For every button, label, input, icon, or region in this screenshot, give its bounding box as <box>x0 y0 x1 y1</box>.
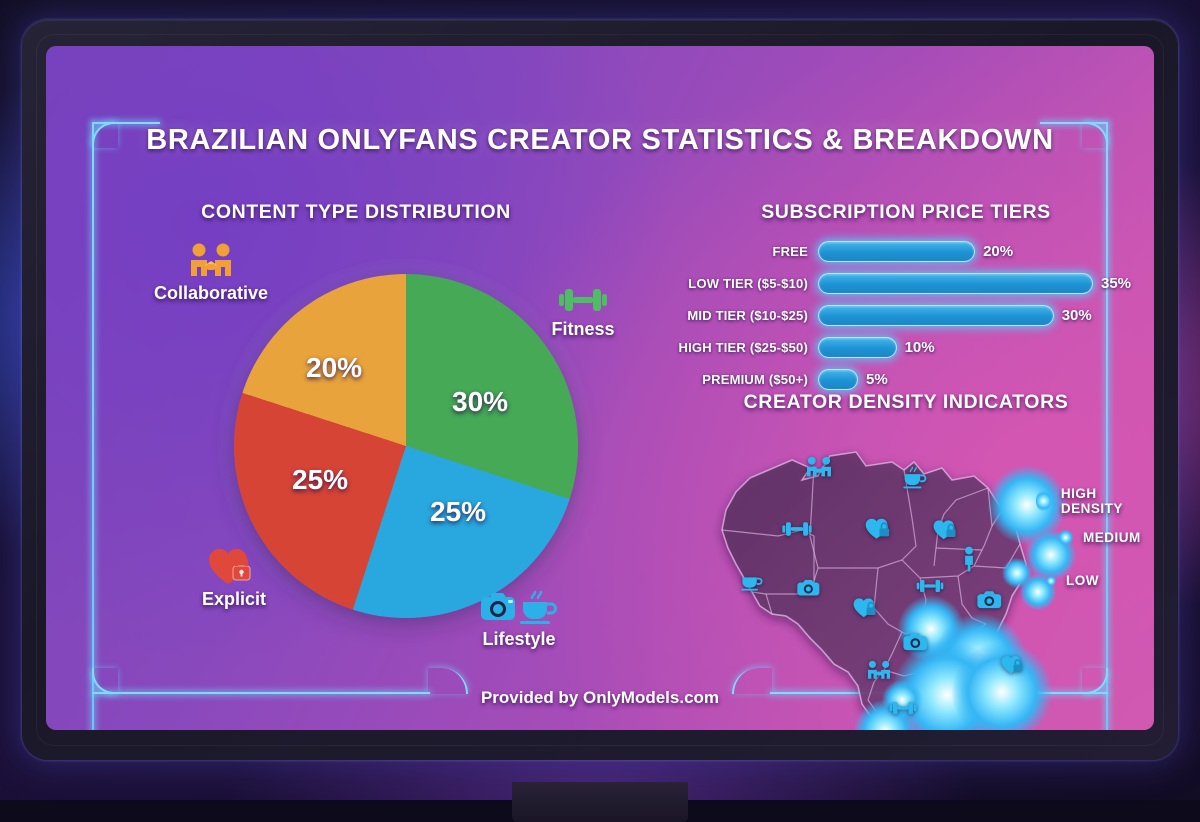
density-legend-dot <box>1036 490 1051 512</box>
dumbbell-icon <box>528 282 638 318</box>
bar-fill-mid-tier <box>818 305 1054 326</box>
monitor-frame: BRAZILIAN ONLYFANS CREATOR STATISTICS & … <box>22 20 1178 760</box>
bar-fill-free <box>818 241 975 262</box>
bar-track: 35% <box>818 273 1146 295</box>
brazil-density-map: HIGH DENSITY MEDIUM LOW <box>706 418 1126 730</box>
pie-legend-collaborative: Collaborative <box>136 242 286 304</box>
pie-legend-fitness: Fitness <box>528 282 638 340</box>
table-row: PREMIUM ($50+) 5% <box>666 366 1146 393</box>
bar-value-mid-tier: 30% <box>1062 307 1092 324</box>
bar-value-free: 20% <box>983 243 1013 260</box>
bar-value-high-tier: 10% <box>905 339 935 356</box>
pie-legend-label-lifestyle: Lifestyle <box>454 629 584 650</box>
neon-border-left <box>92 122 94 730</box>
map-legend-low: LOW <box>1046 573 1099 588</box>
bar-track: 30% <box>818 305 1146 327</box>
density-legend-dot <box>1058 530 1073 545</box>
map-legend-label-low: LOW <box>1066 573 1099 588</box>
subscription-price-tiers-chart: FREE 20% LOW TIER ($5-$10) 35% MID TIER … <box>666 238 1146 398</box>
bar-track: 20% <box>818 241 1146 263</box>
density-legend-dot <box>1046 576 1056 586</box>
bar-value-premium: 5% <box>866 371 888 388</box>
table-row: HIGH TIER ($25-$50) 10% <box>666 334 1146 361</box>
map-legend-high-density: HIGH DENSITY <box>1036 486 1130 516</box>
pie-legend-lifestyle: Lifestyle <box>454 586 584 650</box>
pie-legend-label-fitness: Fitness <box>528 319 638 340</box>
bar-label-mid-tier: MID TIER ($10-$25) <box>666 308 818 323</box>
pie-slice-label-collaborative: 20% <box>306 352 362 384</box>
heart-lock-icon <box>174 546 294 588</box>
bar-track: 10% <box>818 337 1146 359</box>
bar-track: 5% <box>818 369 1146 391</box>
pie-slice-label-lifestyle: 25% <box>430 496 486 528</box>
pie-legend-label-explicit: Explicit <box>174 589 294 610</box>
map-legend-medium: MEDIUM <box>1058 530 1141 545</box>
table-row: MID TIER ($10-$25) 30% <box>666 302 1146 329</box>
pie-slice-label-fitness: 30% <box>452 386 508 418</box>
map-section-title: CREATOR DENSITY INDICATORS <box>666 391 1146 414</box>
monitor-screen: BRAZILIAN ONLYFANS CREATOR STATISTICS & … <box>46 46 1154 730</box>
monitor-stand-neck <box>512 782 688 822</box>
bar-label-premium: PREMIUM ($50+) <box>666 372 818 387</box>
table-row: FREE 20% <box>666 238 1146 265</box>
map-legend-label-medium: MEDIUM <box>1083 530 1141 545</box>
bar-label-low-tier: LOW TIER ($5-$10) <box>666 276 818 291</box>
bar-fill-low-tier <box>818 273 1093 294</box>
pie-legend-label-collaborative: Collaborative <box>136 283 286 304</box>
bar-label-free: FREE <box>666 244 818 259</box>
footer-credit: Provided by OnlyModels.com <box>46 688 1154 708</box>
bar-value-low-tier: 35% <box>1101 275 1131 292</box>
pie-legend-explicit: Explicit <box>174 546 294 610</box>
handshake-icon <box>136 242 286 282</box>
camera-coffee-icon <box>454 586 584 628</box>
bars-section-title: SUBSCRIPTION PRICE TIERS <box>666 201 1146 224</box>
page-title: BRAZILIAN ONLYFANS CREATOR STATISTICS & … <box>46 124 1154 157</box>
map-legend-label-high: HIGH DENSITY <box>1061 486 1130 516</box>
pie-slice-label-explicit: 25% <box>292 464 348 496</box>
bar-fill-premium <box>818 369 858 390</box>
bar-fill-high-tier <box>818 337 897 358</box>
bar-label-high-tier: HIGH TIER ($25-$50) <box>666 340 818 355</box>
table-row: LOW TIER ($5-$10) 35% <box>666 270 1146 297</box>
pie-section-title: CONTENT TYPE DISTRIBUTION <box>106 201 606 224</box>
